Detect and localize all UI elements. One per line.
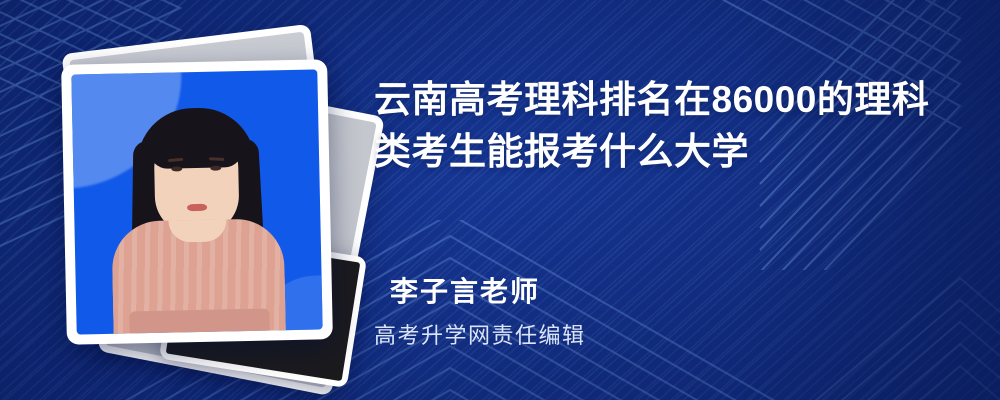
photo-card-front <box>61 59 333 345</box>
author-role: 高考升学网责任编辑 <box>374 318 586 350</box>
portrait-figure <box>106 98 289 334</box>
photo-card-stack <box>56 36 356 366</box>
portrait-lips <box>187 204 207 211</box>
text-column: 云南高考理科排名在86000的理科类考生能报考什么大学 李子言老师 高考升学网责… <box>374 0 974 400</box>
article-banner: 云南高考理科排名在86000的理科类考生能报考什么大学 李子言老师 高考升学网责… <box>0 0 1000 400</box>
portrait-fringe <box>148 119 243 169</box>
portrait-garment <box>111 218 285 334</box>
page-title: 云南高考理科排名在86000的理科类考生能报考什么大学 <box>374 74 944 178</box>
portrait-photo <box>71 69 322 334</box>
author-name: 李子言老师 <box>390 270 540 310</box>
portrait-waistband <box>129 309 269 334</box>
